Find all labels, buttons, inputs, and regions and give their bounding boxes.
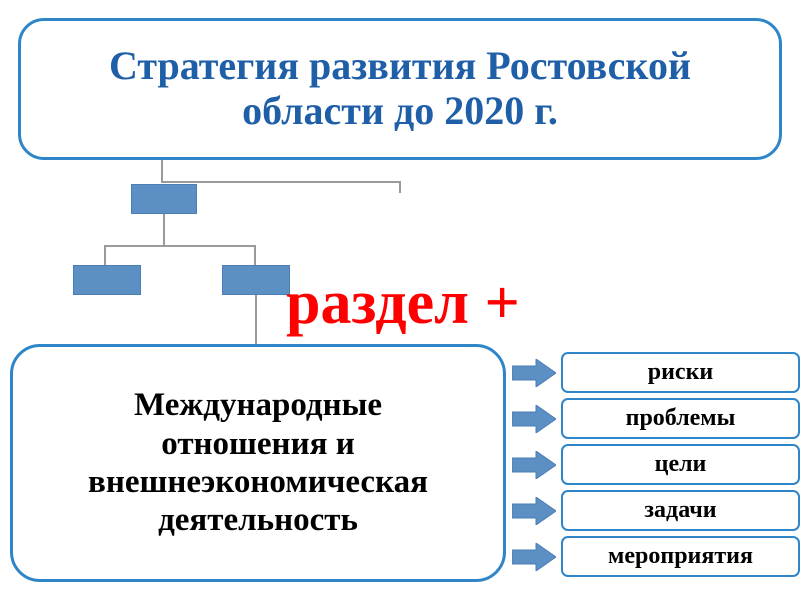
item-label: риски bbox=[648, 359, 713, 386]
connector-horizontal-level2 bbox=[104, 245, 256, 247]
connector-horizontal-top bbox=[161, 181, 401, 183]
slide-title-line-1: Стратегия развития Ростовской bbox=[109, 44, 691, 89]
main-content-box: Международные отношения и внешнеэкономич… bbox=[10, 344, 506, 582]
node-level1 bbox=[131, 184, 197, 214]
connector-vertical-branch-left bbox=[104, 245, 106, 267]
main-content-line-4: деятельность bbox=[88, 501, 428, 539]
slide-title: Стратегия развития Ростовской области до… bbox=[83, 44, 717, 134]
arrow-right-icon bbox=[512, 543, 556, 571]
connector-vertical-to-main bbox=[255, 295, 257, 345]
item-box[interactable]: мероприятия bbox=[561, 536, 800, 577]
main-content-line-1: Международные bbox=[88, 386, 428, 424]
item-label: цели bbox=[655, 451, 707, 478]
node-level2-left bbox=[73, 265, 141, 295]
main-content-line-2: отношения и bbox=[88, 425, 428, 463]
item-box[interactable]: риски bbox=[561, 352, 800, 393]
connector-vertical-branch-right bbox=[254, 245, 256, 267]
item-label: мероприятия bbox=[608, 543, 753, 570]
list-item: цели bbox=[512, 444, 800, 487]
item-box[interactable]: цели bbox=[561, 444, 800, 485]
items-list: риски проблемы цели задачи bbox=[512, 352, 800, 582]
list-item: мероприятия bbox=[512, 536, 800, 579]
main-content-line-3: внешнеэкономическая bbox=[88, 463, 428, 501]
arrow-right-icon bbox=[512, 451, 556, 479]
item-box[interactable]: задачи bbox=[561, 490, 800, 531]
item-box[interactable]: проблемы bbox=[561, 398, 800, 439]
node-level2-right bbox=[222, 265, 290, 295]
item-label: проблемы bbox=[626, 405, 736, 432]
slide-title-line-2: области до 2020 г. bbox=[109, 89, 691, 134]
arrow-right-icon bbox=[512, 405, 556, 433]
main-content-text: Международные отношения и внешнеэкономич… bbox=[80, 386, 436, 539]
list-item: риски bbox=[512, 352, 800, 395]
slide-title-box: Стратегия развития Ростовской области до… bbox=[18, 18, 782, 160]
connector-vertical-right-stub bbox=[399, 181, 401, 193]
connector-vertical-node1 bbox=[163, 214, 165, 246]
arrow-right-icon bbox=[512, 359, 556, 387]
arrow-right-icon bbox=[512, 497, 556, 525]
list-item: проблемы bbox=[512, 398, 800, 441]
connector-vertical-title bbox=[161, 160, 163, 182]
list-item: задачи bbox=[512, 490, 800, 533]
slide-canvas: Стратегия развития Ростовской области до… bbox=[0, 0, 800, 593]
item-label: задачи bbox=[644, 497, 716, 524]
overlay-word: раздел + bbox=[286, 272, 666, 334]
